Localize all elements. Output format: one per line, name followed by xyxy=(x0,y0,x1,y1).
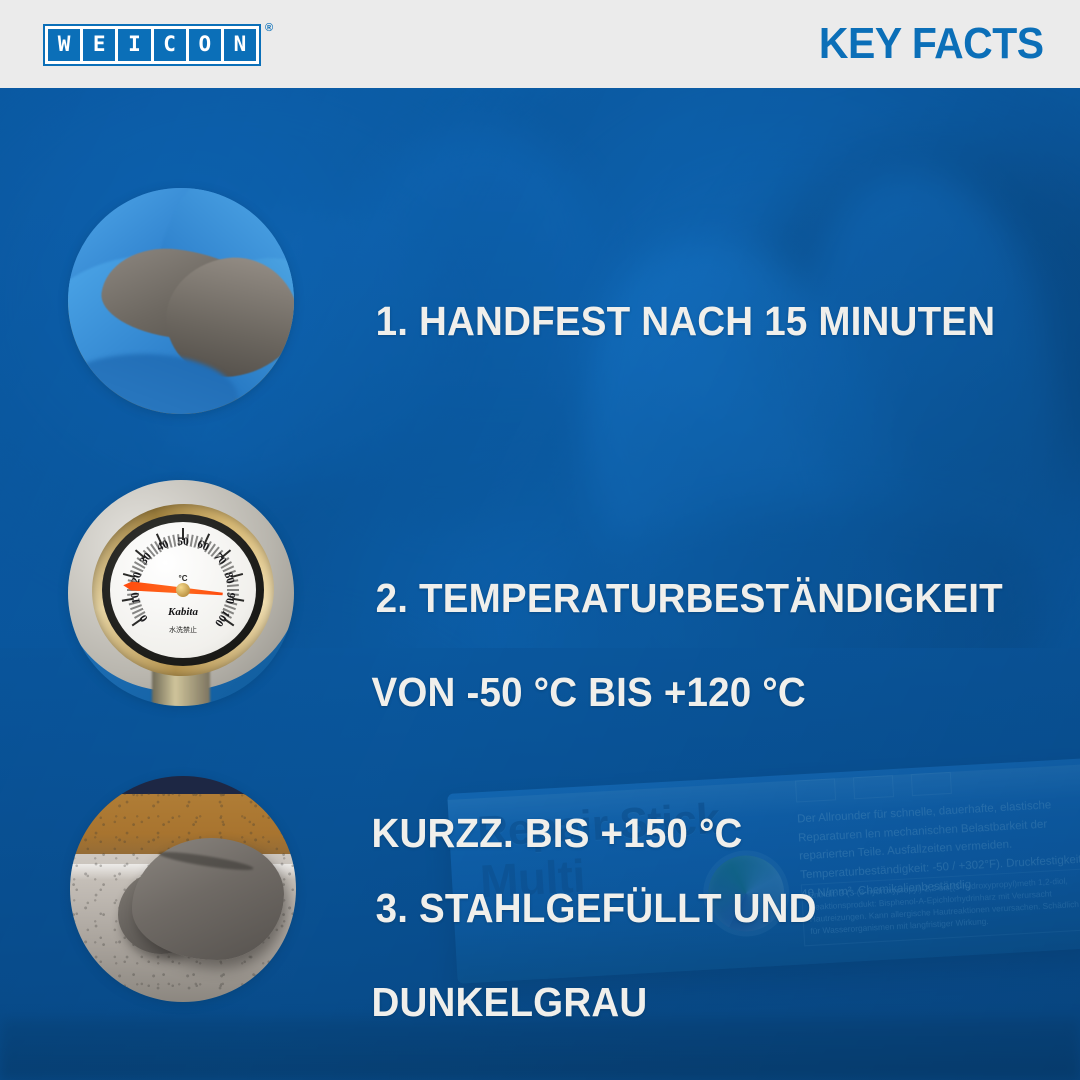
fact-image-3 xyxy=(70,776,296,1002)
logo-letter: O xyxy=(189,29,221,61)
logo-letter: E xyxy=(83,29,115,61)
fact-3-line-1: 3. STAHLGEFÜLLT UND xyxy=(376,885,817,931)
c2-japanese-label: 水洗禁止 xyxy=(169,625,197,635)
weicon-logo[interactable]: W E I C O N xyxy=(43,24,261,66)
fact-text-1: 1. HANDFEST NACH 15 MINUTEN xyxy=(332,251,995,392)
logo-letter: W xyxy=(48,29,80,61)
fact-2-line-2: VON -50 °C BIS +120 °C xyxy=(332,669,1003,716)
fact-3-line-2: DUNKELGRAU xyxy=(332,979,817,1026)
fact-2-line-1: 2. TEMPERATURBESTÄNDIGKEIT xyxy=(376,575,1003,621)
header-bar: W E I C O N ® KEY FACTS xyxy=(0,0,1080,88)
registered-trademark-icon: ® xyxy=(265,22,273,34)
c2-scale-number: 90 xyxy=(223,592,237,605)
key-facts-poster: Repair Stick Multi Der Allrounder für sc… xyxy=(0,0,1080,1080)
c2-needle-hub xyxy=(176,583,190,597)
c2-scale-number: 50 xyxy=(177,536,189,548)
c2-scale-number: 80 xyxy=(222,570,237,584)
c2-scale-number: 10 xyxy=(129,592,143,605)
logo-letter: C xyxy=(154,29,186,61)
c2-dial-face: °C Kabita 水洗禁止 0102030405060708090100 xyxy=(110,522,256,658)
logo-letter: I xyxy=(118,29,150,61)
fact-text-3: 3. STAHLGEFÜLLT UND DUNKELGRAU xyxy=(332,838,817,1080)
fact-image-2: °C Kabita 水洗禁止 0102030405060708090100 xyxy=(68,480,294,706)
c2-brand-label: Kabita xyxy=(168,606,198,618)
fact-1-line-1: 1. HANDFEST NACH 15 MINUTEN xyxy=(376,298,996,344)
logo-letter: N xyxy=(224,29,256,61)
page-title: KEY FACTS xyxy=(819,19,1044,69)
fact-image-1 xyxy=(68,188,294,414)
